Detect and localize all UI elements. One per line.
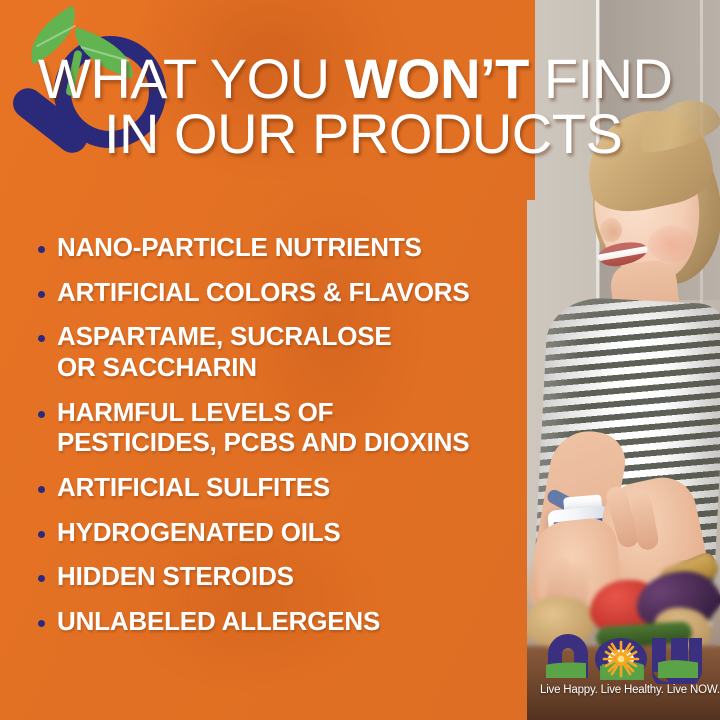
- list-item-label: HIDDEN STEROIDS: [57, 561, 294, 592]
- list-item: HIDDEN STEROIDS: [38, 561, 518, 592]
- list-item-label: ASPARTAME, SUCRALOSE OR SACCHARIN: [57, 321, 392, 382]
- bullet-dot-icon: [38, 246, 45, 253]
- bullet-dot-icon: [38, 411, 45, 418]
- woman-cheek: [648, 226, 694, 262]
- list-item-label: ARTIFICIAL SULFITES: [57, 472, 330, 503]
- list-item-label: HYDROGENATED OILS: [57, 517, 341, 548]
- now-logo-svg: [540, 626, 702, 684]
- woman-nose: [600, 218, 622, 242]
- now-brand-logo: Live Happy. Live Healthy. Live NOW.: [540, 626, 702, 710]
- list-item-label: NANO-PARTICLE NUTRIENTS: [57, 232, 422, 263]
- bullet-dot-icon: [38, 486, 45, 493]
- list-item-label: UNLABELED ALLERGENS: [57, 606, 380, 637]
- list-item: UNLABELED ALLERGENS: [38, 606, 518, 637]
- list-item: HARMFUL LEVELS OF PESTICIDES, PCBS AND D…: [38, 397, 518, 458]
- bullet-dot-icon: [38, 335, 45, 342]
- headline-line-1: WHAT YOU WON’T FIND: [0, 52, 720, 107]
- list-item-label: ARTIFICIAL COLORS & FLAVORS: [57, 277, 470, 308]
- bullet-dot-icon: [38, 575, 45, 582]
- list-item: ARTIFICIAL COLORS & FLAVORS: [38, 277, 518, 308]
- page-title: WHAT YOU WON’T FIND IN OUR PRODUCTS: [0, 52, 720, 162]
- bullet-dot-icon: [38, 531, 45, 538]
- headline-line-2: IN OUR PRODUCTS: [0, 107, 720, 162]
- headline-emphasis: WON’T: [345, 47, 529, 110]
- list-item: HYDROGENATED OILS: [38, 517, 518, 548]
- list-item: ARTIFICIAL SULFITES: [38, 472, 518, 503]
- list-item: ASPARTAME, SUCRALOSE OR SACCHARIN: [38, 321, 518, 382]
- exclusion-list: NANO-PARTICLE NUTRIENTS ARTIFICIAL COLOR…: [38, 232, 518, 651]
- marketing-graphic: WHAT YOU WON’T FIND IN OUR PRODUCTS NANO…: [0, 0, 720, 720]
- headline-part-2: FIND: [529, 47, 673, 110]
- bullet-dot-icon: [38, 620, 45, 627]
- bullet-dot-icon: [38, 291, 45, 298]
- list-item: NANO-PARTICLE NUTRIENTS: [38, 232, 518, 263]
- headline-part-1: WHAT YOU: [38, 47, 345, 110]
- brand-tagline: Live Happy. Live Healthy. Live NOW.: [540, 684, 702, 696]
- sunburst-icon: [604, 642, 638, 676]
- list-item-label: HARMFUL LEVELS OF PESTICIDES, PCBS AND D…: [57, 397, 469, 458]
- now-wordmark: [540, 626, 702, 684]
